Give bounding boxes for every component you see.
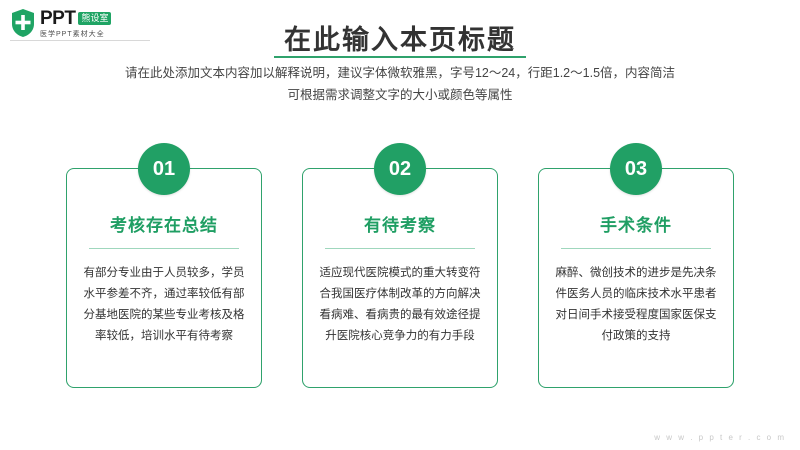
card-3[interactable]: 03 手术条件 麻醉、微创技术的进步是先决条件医务人员的临床技术水平患者对日间手… <box>538 168 734 388</box>
card-group: 01 考核存在总结 有部分专业由于人员较多，学员水平参差不齐，通过率较低有部分基… <box>0 168 800 388</box>
card-1-heading: 考核存在总结 <box>67 211 261 236</box>
subtitle-line-1: 请在此处添加文本内容加以解释说明，建议字体微软雅黑，字号12～24，行距1.2～… <box>0 62 800 84</box>
card-1-body: 有部分专业由于人员较多，学员水平参差不齐，通过率较低有部分基地医院的某些专业考核… <box>83 263 245 347</box>
title-underline <box>274 56 526 58</box>
card-2-heading: 有待考察 <box>303 211 497 236</box>
card-1-heading-rule <box>89 248 239 249</box>
card-3-number-badge: 03 <box>610 143 662 195</box>
card-3-heading: 手术条件 <box>539 211 733 236</box>
card-3-heading-rule <box>561 248 711 249</box>
card-1[interactable]: 01 考核存在总结 有部分专业由于人员较多，学员水平参差不齐，通过率较低有部分基… <box>66 168 262 388</box>
page-title: 在此输入本页标题 <box>0 18 800 57</box>
page-subtitle: 请在此处添加文本内容加以解释说明，建议字体微软雅黑，字号12～24，行距1.2～… <box>0 62 800 106</box>
card-2[interactable]: 02 有待考察 适应现代医院模式的重大转变符合我国医疗体制改革的方向解决看病难、… <box>302 168 498 388</box>
card-2-heading-rule <box>325 248 475 249</box>
card-2-number-badge: 02 <box>374 143 426 195</box>
card-3-body: 麻醉、微创技术的进步是先决条件医务人员的临床技术水平患者对日间手术接受程度国家医… <box>555 263 717 347</box>
subtitle-line-2: 可根据需求调整文字的大小或颜色等属性 <box>0 84 800 106</box>
footer-watermark: w w w . p p t e r . c o m <box>654 433 786 442</box>
card-1-number-badge: 01 <box>138 143 190 195</box>
card-2-body: 适应现代医院模式的重大转变符合我国医疗体制改革的方向解决看病难、看病贵的最有效途… <box>319 263 481 347</box>
